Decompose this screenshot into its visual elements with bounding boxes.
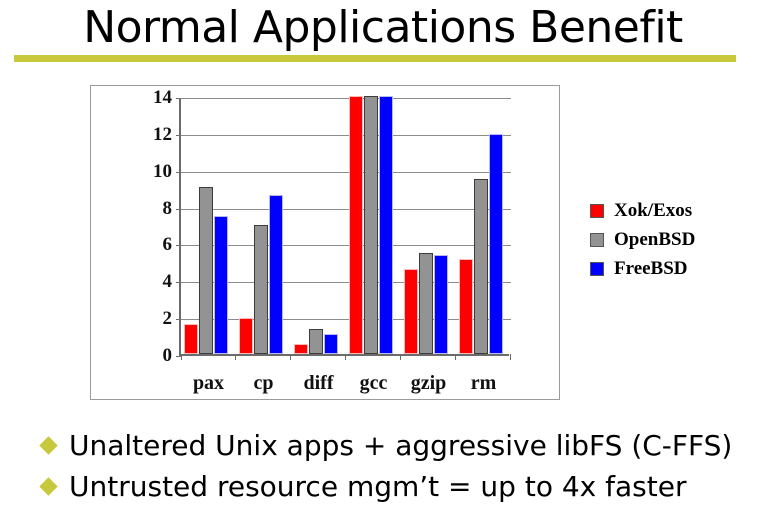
bar-rm-openbsd: [474, 179, 488, 354]
bar-cp-xok-exos: [239, 318, 253, 354]
legend-swatch-icon: [590, 233, 604, 247]
bar-gzip-xok-exos: [404, 269, 418, 354]
y-axis-tick-label: 14: [153, 87, 172, 109]
bar-group-cp: cp: [236, 96, 291, 354]
bar-gzip-openbsd: [419, 253, 433, 354]
bar-gcc-openbsd: [364, 96, 378, 354]
bar-group-gzip: gzip: [401, 96, 456, 354]
legend-label: FreeBSD: [614, 258, 688, 280]
y-axis-tick-label: 2: [163, 308, 173, 330]
x-axis-tick: [400, 354, 401, 360]
bar-group-gcc: gcc: [346, 96, 401, 354]
x-axis-tick: [181, 354, 182, 360]
plot-area: 02468101214paxcpdiffgccgziprm: [179, 98, 509, 356]
bar-gcc-xok-exos: [349, 96, 363, 354]
legend-item: OpenBSD: [590, 225, 695, 254]
bullet-list: Unaltered Unix apps + aggressive libFS (…: [42, 427, 762, 509]
legend-swatch-icon: [590, 262, 604, 276]
y-axis-tick-label: 4: [163, 271, 173, 293]
bullet-text: Unaltered Unix apps + aggressive libFS (…: [69, 427, 732, 465]
bar-rm-freebsd: [489, 134, 503, 354]
x-axis-label-rm: rm: [456, 372, 511, 395]
bar-pax-openbsd: [199, 187, 213, 354]
bar-gzip-freebsd: [434, 255, 448, 355]
bar-pax-xok-exos: [184, 324, 198, 354]
legend-label: Xok/Exos: [614, 200, 692, 222]
y-axis-tick-label: 10: [153, 161, 172, 183]
x-axis-label-gcc: gcc: [346, 372, 401, 395]
legend-item: Xok/Exos: [590, 196, 695, 225]
list-item: Untrusted resource mgm’t = up to 4x fast…: [42, 468, 762, 509]
x-axis-label-gzip: gzip: [401, 372, 456, 395]
bar-group-diff: diff: [291, 96, 346, 354]
y-axis-tick-label: 12: [153, 124, 172, 146]
x-axis-tick: [345, 354, 346, 360]
bar-pax-freebsd: [214, 216, 228, 354]
x-axis-tick: [510, 354, 511, 360]
bar-group-pax: pax: [181, 96, 236, 354]
x-axis-label-pax: pax: [181, 372, 236, 395]
chart-legend: Xok/ExosOpenBSDFreeBSD: [590, 196, 695, 283]
bullet-text: Untrusted resource mgm’t = up to 4x fast…: [69, 468, 686, 506]
bar-rm-xok-exos: [459, 259, 473, 354]
x-axis-label-diff: diff: [291, 372, 346, 395]
legend-swatch-icon: [590, 204, 604, 218]
y-axis-tick-label: 8: [163, 198, 173, 220]
bar-chart: 02468101214paxcpdiffgccgziprm: [90, 85, 560, 400]
legend-item: FreeBSD: [590, 254, 695, 283]
title-underline-rule: [14, 55, 736, 62]
x-axis-tick: [235, 354, 236, 360]
x-axis-label-cp: cp: [236, 372, 291, 395]
x-axis-tick: [290, 354, 291, 360]
bar-cp-openbsd: [254, 225, 268, 354]
bar-diff-xok-exos: [294, 344, 308, 354]
diamond-bullet-icon: [39, 477, 57, 495]
bar-cp-freebsd: [269, 195, 283, 354]
y-axis-tick-label: 6: [163, 234, 173, 256]
bar-diff-openbsd: [309, 329, 323, 354]
bar-gcc-freebsd: [379, 96, 393, 354]
list-item: Unaltered Unix apps + aggressive libFS (…: [42, 427, 762, 468]
diamond-bullet-icon: [39, 436, 57, 454]
x-axis-tick: [455, 354, 456, 360]
legend-label: OpenBSD: [614, 229, 695, 251]
bar-group-rm: rm: [456, 96, 511, 354]
y-axis-tick-label: 0: [163, 345, 173, 367]
bar-diff-freebsd: [324, 334, 338, 354]
page-title: Normal Applications Benefit: [0, 2, 766, 54]
